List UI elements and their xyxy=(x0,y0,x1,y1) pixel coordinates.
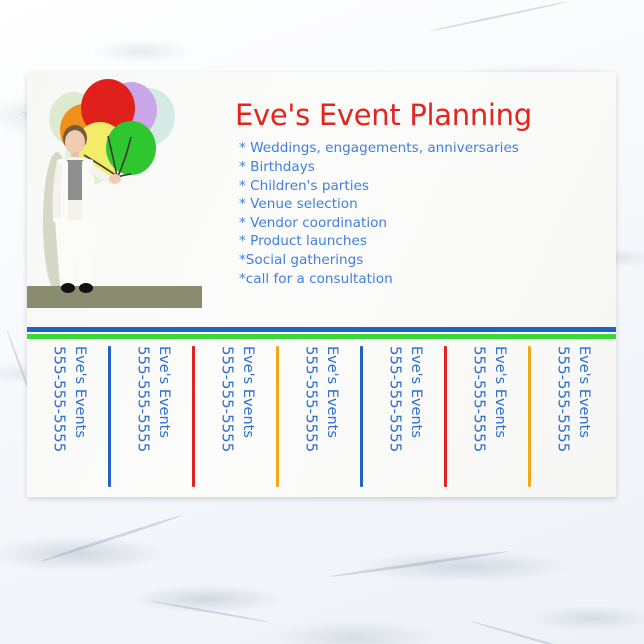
tear-off-phone: 555-555-5555 xyxy=(51,342,66,452)
divider-rule-blue xyxy=(27,327,616,332)
list-item: * Venue selection xyxy=(239,195,597,214)
tear-off-business-name: Eve's Events xyxy=(156,342,171,438)
tear-off-strip[interactable]: Eve's Events 555-555-5555 xyxy=(279,342,363,490)
list-item: * Product launches xyxy=(239,232,597,251)
tear-off-phone: 555-555-5555 xyxy=(387,342,402,452)
screenshot-stage: Eve's Event Planning * Weddings, engagem… xyxy=(0,0,644,644)
marble-vein xyxy=(330,550,509,578)
tear-off-business-name: Eve's Events xyxy=(324,342,339,438)
divider-rule-green xyxy=(27,334,616,339)
tear-off-phone: 555-555-5555 xyxy=(219,342,234,452)
tear-off-business-name: Eve's Events xyxy=(240,342,255,438)
marble-vein xyxy=(150,600,269,623)
tear-off-strip[interactable]: Eve's Events 555-555-5555 xyxy=(363,342,447,490)
marble-vein xyxy=(469,620,595,644)
tear-off-business-name: Eve's Events xyxy=(492,342,507,438)
flyer-card: Eve's Event Planning * Weddings, engagem… xyxy=(27,72,616,497)
list-item: *Social gatherings xyxy=(239,251,597,270)
list-item: * Vendor coordination xyxy=(239,214,597,233)
tear-off-phone: 555-555-5555 xyxy=(303,342,318,452)
tear-off-business-name: Eve's Events xyxy=(72,342,87,438)
list-item: * Birthdays xyxy=(239,158,597,177)
tear-off-strip[interactable]: Eve's Events 555-555-5555 xyxy=(447,342,531,490)
services-list: * Weddings, engagements, anniversaries *… xyxy=(239,139,597,288)
list-item: * Weddings, engagements, anniversaries xyxy=(239,139,597,158)
list-item: * Children's parties xyxy=(239,177,597,196)
page-title: Eve's Event Planning xyxy=(235,100,597,130)
flyer-text-block: Eve's Event Planning * Weddings, engagem… xyxy=(217,100,597,288)
marble-vein xyxy=(430,1,567,32)
tear-off-strip[interactable]: Eve's Events 555-555-5555 xyxy=(531,342,616,490)
tear-off-strip[interactable]: Eve's Events 555-555-5555 xyxy=(111,342,195,490)
woman-holding-balloons-illustration xyxy=(27,72,202,314)
tear-off-strip-row: Eve's Events 555-555-5555 Eve's Events 5… xyxy=(27,342,616,490)
tear-off-phone: 555-555-5555 xyxy=(555,342,570,452)
tear-off-strip[interactable]: Eve's Events 555-555-5555 xyxy=(195,342,279,490)
tear-off-phone: 555-555-5555 xyxy=(471,342,486,452)
tear-off-business-name: Eve's Events xyxy=(576,342,591,438)
tear-off-business-name: Eve's Events xyxy=(408,342,423,438)
marble-vein xyxy=(40,514,184,563)
tear-off-strip[interactable]: Eve's Events 555-555-5555 xyxy=(27,342,111,490)
tear-off-phone: 555-555-5555 xyxy=(135,342,150,452)
list-item: *call for a consultation xyxy=(239,270,597,289)
